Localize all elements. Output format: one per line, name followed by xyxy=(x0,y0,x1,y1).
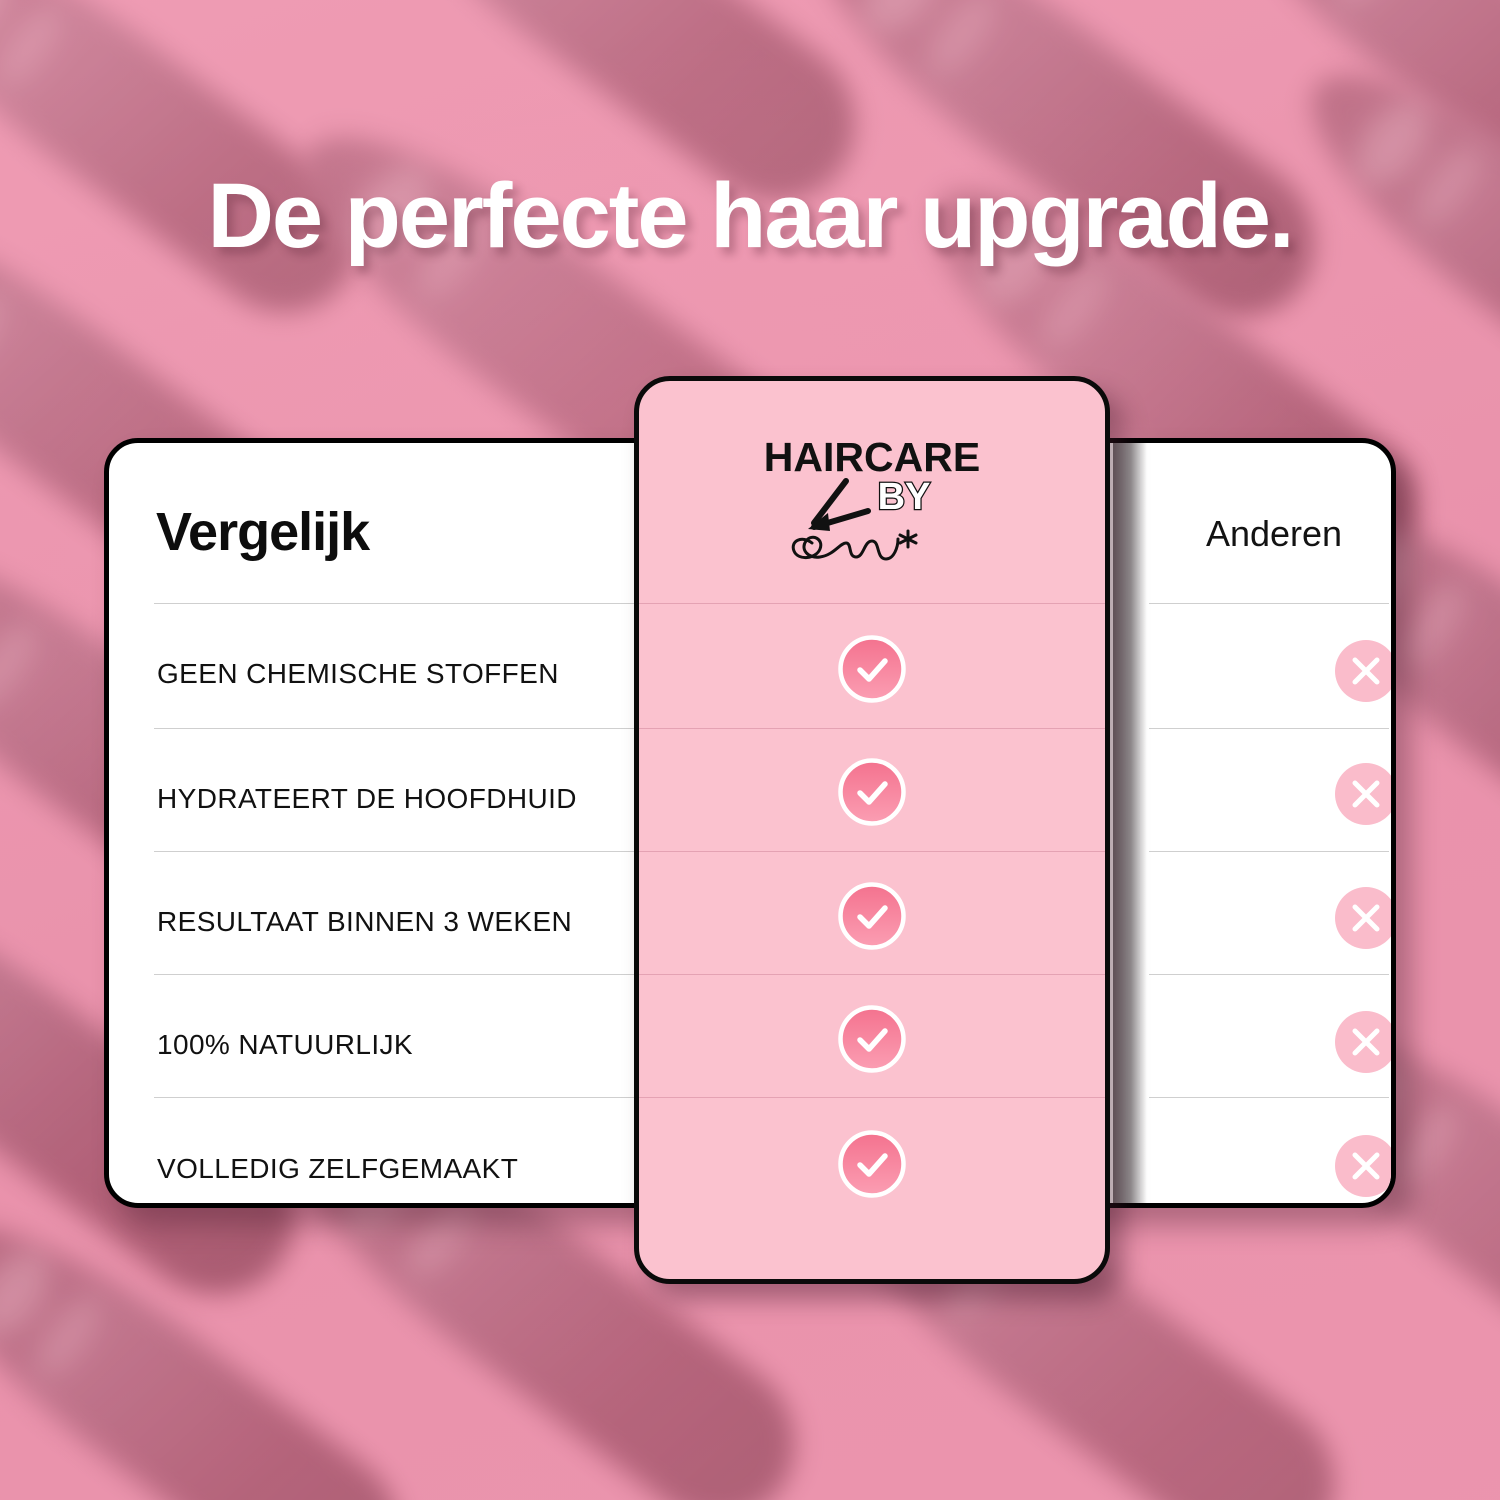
check-circle-icon xyxy=(836,1003,908,1075)
divider xyxy=(639,974,1105,975)
feature-label: RESULTAAT BINNEN 3 WEKEN xyxy=(157,906,572,938)
check-circle-icon xyxy=(836,880,908,952)
feature-label: VOLLEDIG ZELFGEMAAKT xyxy=(157,1153,518,1185)
divider xyxy=(639,603,1105,604)
brand-script-path xyxy=(793,537,898,559)
divider xyxy=(154,974,634,975)
compare-header-label: Vergelijk xyxy=(156,501,369,563)
divider xyxy=(154,603,634,604)
divider xyxy=(154,1097,634,1098)
others-header-label: Anderen xyxy=(1149,513,1396,555)
check-circle-icon xyxy=(836,756,908,828)
cross-circle-icon xyxy=(1335,763,1396,825)
divider xyxy=(1149,974,1389,975)
divider xyxy=(639,1097,1105,1098)
comparison-table: Vergelijk Anderen GEEN CHEMISCHE STOFFEN… xyxy=(0,0,1500,1500)
divider xyxy=(154,728,634,729)
feature-label: 100% NATUURLIJK xyxy=(157,1029,413,1061)
divider xyxy=(1149,1097,1389,1098)
brand-logo-svg: HAIRCARE BY Sen xyxy=(742,431,1002,571)
cross-circle-icon xyxy=(1335,887,1396,949)
divider xyxy=(1149,603,1389,604)
feature-label: GEEN CHEMISCHE STOFFEN xyxy=(157,658,559,690)
mid-card-dropshadow xyxy=(1113,443,1147,1208)
divider xyxy=(639,728,1105,729)
cross-circle-icon xyxy=(1335,640,1396,702)
sparkle-icon xyxy=(900,531,916,547)
divider xyxy=(1149,728,1389,729)
cross-circle-icon xyxy=(1335,1135,1396,1197)
brand-line1: HAIRCARE xyxy=(764,434,980,480)
brand-logo: HAIRCARE BY Sen xyxy=(639,431,1105,576)
divider xyxy=(154,851,634,852)
cross-circle-icon xyxy=(1335,1011,1396,1073)
comparison-card-brand: HAIRCARE BY Sen xyxy=(634,376,1110,1284)
divider xyxy=(1149,851,1389,852)
divider xyxy=(639,851,1105,852)
feature-label: HYDRATEERT DE HOOFDHUID xyxy=(157,783,577,815)
brand-line2: BY xyxy=(878,476,931,518)
check-circle-icon xyxy=(836,633,908,705)
check-circle-icon xyxy=(836,1128,908,1200)
